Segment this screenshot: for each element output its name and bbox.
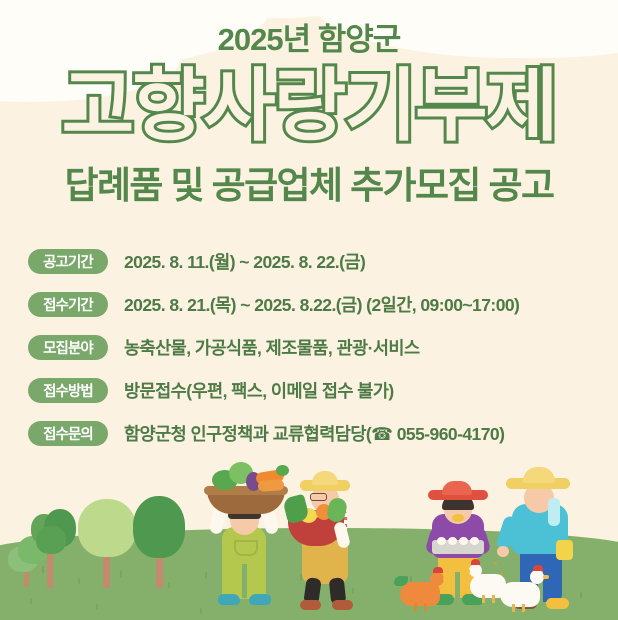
info-value: 2025. 8. 11.(월) ~ 2025. 8. 22.(금) <box>124 249 365 274</box>
figure-hand <box>497 546 509 557</box>
info-row: 접수기간 2025. 8. 21.(목) ~ 2025. 8.22.(금) (2… <box>28 283 608 326</box>
chicken-comb <box>471 559 480 565</box>
info-label-pill: 접수기간 <box>28 292 108 317</box>
figure-shoe <box>300 600 321 610</box>
info-value: 방문접수(우편, 팩스, 이메일 접수 불가) <box>124 378 394 403</box>
chicken-comb <box>533 565 543 571</box>
figure-leg-gap <box>455 572 460 600</box>
vegetable-carrot <box>258 479 285 492</box>
info-row: 접수문의 함양군청 인구정책과 교류협력담당(☎ 055-960-4170) <box>28 412 608 455</box>
chicken-comb <box>433 567 443 573</box>
figure-shoe <box>249 594 271 605</box>
egg-icon <box>470 537 479 545</box>
feed-bag-icon <box>556 540 573 560</box>
poster-title: 고향사랑기부제 <box>0 62 618 150</box>
poster-canvas: 2025년 함양군 고향사랑기부제 답례품 및 공급업체 추가모집 공고 공고기… <box>0 0 618 620</box>
towel-icon <box>548 498 560 526</box>
tree-crown-icon <box>133 496 185 558</box>
chicken-leg <box>424 603 427 611</box>
egg-icon <box>459 537 468 545</box>
tree-crown-icon <box>78 499 136 557</box>
chicken-leg <box>512 604 515 612</box>
info-row: 접수방법 방문접수(우편, 팩스, 이메일 접수 불가) <box>28 369 608 412</box>
glasses-icon <box>310 493 327 501</box>
info-label-pill: 접수방법 <box>28 378 108 403</box>
chicken-leg <box>414 603 417 611</box>
chicken-leg <box>522 604 525 612</box>
overall-pocket <box>234 540 258 556</box>
figure-leg-gap <box>242 564 247 598</box>
figure-shoe <box>218 594 240 605</box>
chicken-head <box>530 570 544 584</box>
tree-crown-icon <box>36 526 66 554</box>
egg-icon <box>448 537 457 545</box>
poster-subtitle: 답례품 및 공급업체 추가모집 공고 <box>0 166 618 207</box>
chicken-head <box>469 564 482 577</box>
white-chicken-icon <box>500 582 540 607</box>
chicken-beak <box>464 569 470 573</box>
info-label-pill: 공고기간 <box>28 249 108 274</box>
chicken-beak <box>543 575 549 579</box>
carrot-greens <box>276 465 289 476</box>
info-value: 함양군청 인구정책과 교류협력담당(☎ 055-960-4170) <box>124 421 504 446</box>
info-label-pill: 모집분야 <box>28 335 108 360</box>
chicken-head <box>430 572 444 586</box>
figure-shoe <box>546 598 569 609</box>
chicken-leg <box>492 595 495 603</box>
straw-hat-crown <box>312 471 338 485</box>
feed-grain <box>494 562 497 565</box>
info-row: 공고기간 2025. 8. 11.(월) ~ 2025. 8. 22.(금) <box>28 240 608 283</box>
red-hat-crown <box>442 481 472 495</box>
info-label-pill: 접수문의 <box>28 421 108 446</box>
poster-eyebrow: 2025년 함양군 <box>0 24 618 55</box>
chicken-leg <box>482 595 485 603</box>
farm-illustration <box>0 452 618 620</box>
straw-hat-crown <box>523 467 555 483</box>
info-row: 모집분야 농축산물, 가공식품, 제조물품, 관광·서비스 <box>28 326 608 369</box>
info-value: 2025. 8. 21.(목) ~ 2025. 8.22.(금) (2일간, 0… <box>124 292 519 317</box>
neck-scarf <box>452 514 464 522</box>
figure-shoe <box>332 600 353 610</box>
chicken-beak <box>443 577 449 581</box>
egg-icon <box>437 537 446 545</box>
info-value: 농축산물, 가공식품, 제조물품, 관광·서비스 <box>124 335 420 360</box>
info-list: 공고기간 2025. 8. 11.(월) ~ 2025. 8. 22.(금) 접… <box>28 240 608 455</box>
